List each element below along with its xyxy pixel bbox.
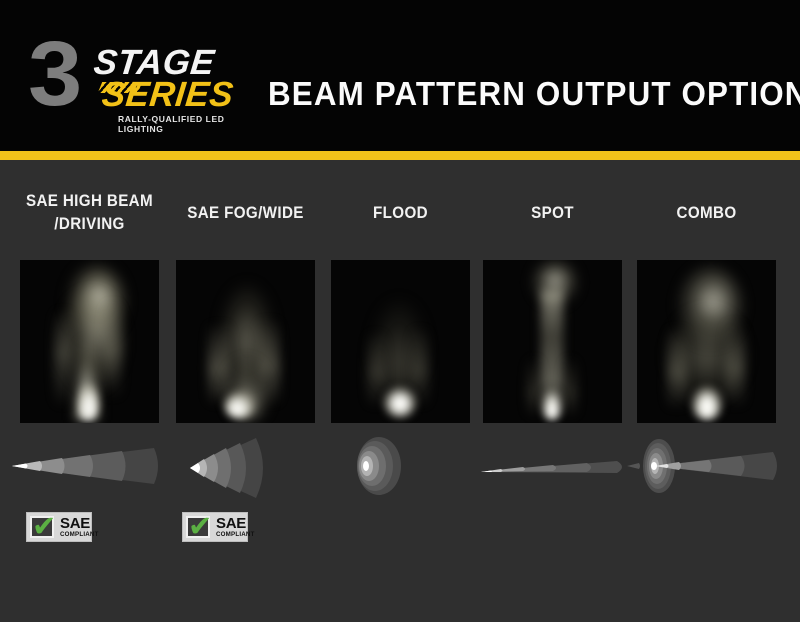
- sae-badge-text: SAE COMPLIANT: [216, 516, 255, 538]
- logo-numeral: 3: [28, 28, 78, 120]
- brand-logo: 3 STAGE SERIES RALLY-QUALIFIED LED LIGHT…: [28, 32, 240, 130]
- poster: 3 STAGE SERIES RALLY-QUALIFIED LED LIGHT…: [0, 0, 800, 622]
- column-label-line2: /DRIVING: [54, 215, 124, 233]
- beam-diagram-sae-high-beam-driving: [4, 432, 176, 500]
- checkbox-icon: ✔: [30, 516, 54, 538]
- logo-word-series: SERIES: [100, 77, 242, 113]
- header-bar: 3 STAGE SERIES RALLY-QUALIFIED LED LIGHT…: [0, 0, 800, 151]
- pattern-column-sae-high-beam-driving: SAE HIGH BEAM /DRIVING: [20, 160, 159, 622]
- check-icon: ✔: [32, 511, 62, 541]
- sae-compliant-badge: ✔ SAE COMPLIANT: [182, 512, 248, 542]
- check-icon: ✔: [188, 511, 218, 541]
- sae-compliant-badge: ✔ SAE COMPLIANT: [26, 512, 92, 542]
- pattern-column-flood: FLOOD: [331, 160, 470, 622]
- logo-tagline: RALLY-QUALIFIED LED LIGHTING: [118, 114, 240, 134]
- logo-wordmark: STAGE SERIES RALLY-QUALIFIED LED LIGHTIN…: [94, 46, 240, 134]
- column-label-line1: SAE FOG/WIDE: [187, 204, 304, 222]
- page-title: BEAM PATTERN OUTPUT OPTIONS: [268, 76, 800, 112]
- sae-badge-sub: COMPLIANT: [60, 532, 99, 538]
- pattern-column-combo: COMBO: [637, 160, 776, 622]
- column-label-line1: SPOT: [531, 204, 574, 222]
- column-label: SPOT: [476, 202, 630, 225]
- sae-badge-text: SAE COMPLIANT: [60, 516, 99, 538]
- beam-photo-sae-high-beam-driving: [20, 260, 159, 423]
- beam-diagram-sae-fog-wide: [160, 432, 332, 500]
- beam-photo-combo: [637, 260, 776, 423]
- sae-badge-main: SAE: [216, 516, 255, 531]
- accent-divider: [0, 151, 800, 160]
- column-label-line1: FLOOD: [373, 204, 428, 222]
- pattern-column-sae-fog-wide: SAE FOG/WIDE: [176, 160, 315, 622]
- beam-diagram-flood: [315, 432, 487, 500]
- beam-photo-sae-fog-wide: [176, 260, 315, 423]
- beam-diagram-spot: [467, 432, 639, 500]
- pattern-column-spot: SPOT: [483, 160, 622, 622]
- column-label: SAE FOG/WIDE: [169, 202, 323, 225]
- beam-photo-flood: [331, 260, 470, 423]
- column-label-line1: COMBO: [676, 204, 736, 222]
- column-label: COMBO: [630, 202, 784, 225]
- beam-diagram-combo: [621, 432, 793, 500]
- column-label-line1: SAE HIGH BEAM: [26, 192, 153, 210]
- column-label: SAE HIGH BEAM /DRIVING: [13, 190, 167, 236]
- pattern-grid: SAE HIGH BEAM /DRIVING: [0, 160, 800, 622]
- beam-photo-spot: [483, 260, 622, 423]
- sae-badge-main: SAE: [60, 516, 99, 531]
- column-label: FLOOD: [324, 202, 478, 225]
- checkbox-icon: ✔: [186, 516, 210, 538]
- sae-badge-sub: COMPLIANT: [216, 532, 255, 538]
